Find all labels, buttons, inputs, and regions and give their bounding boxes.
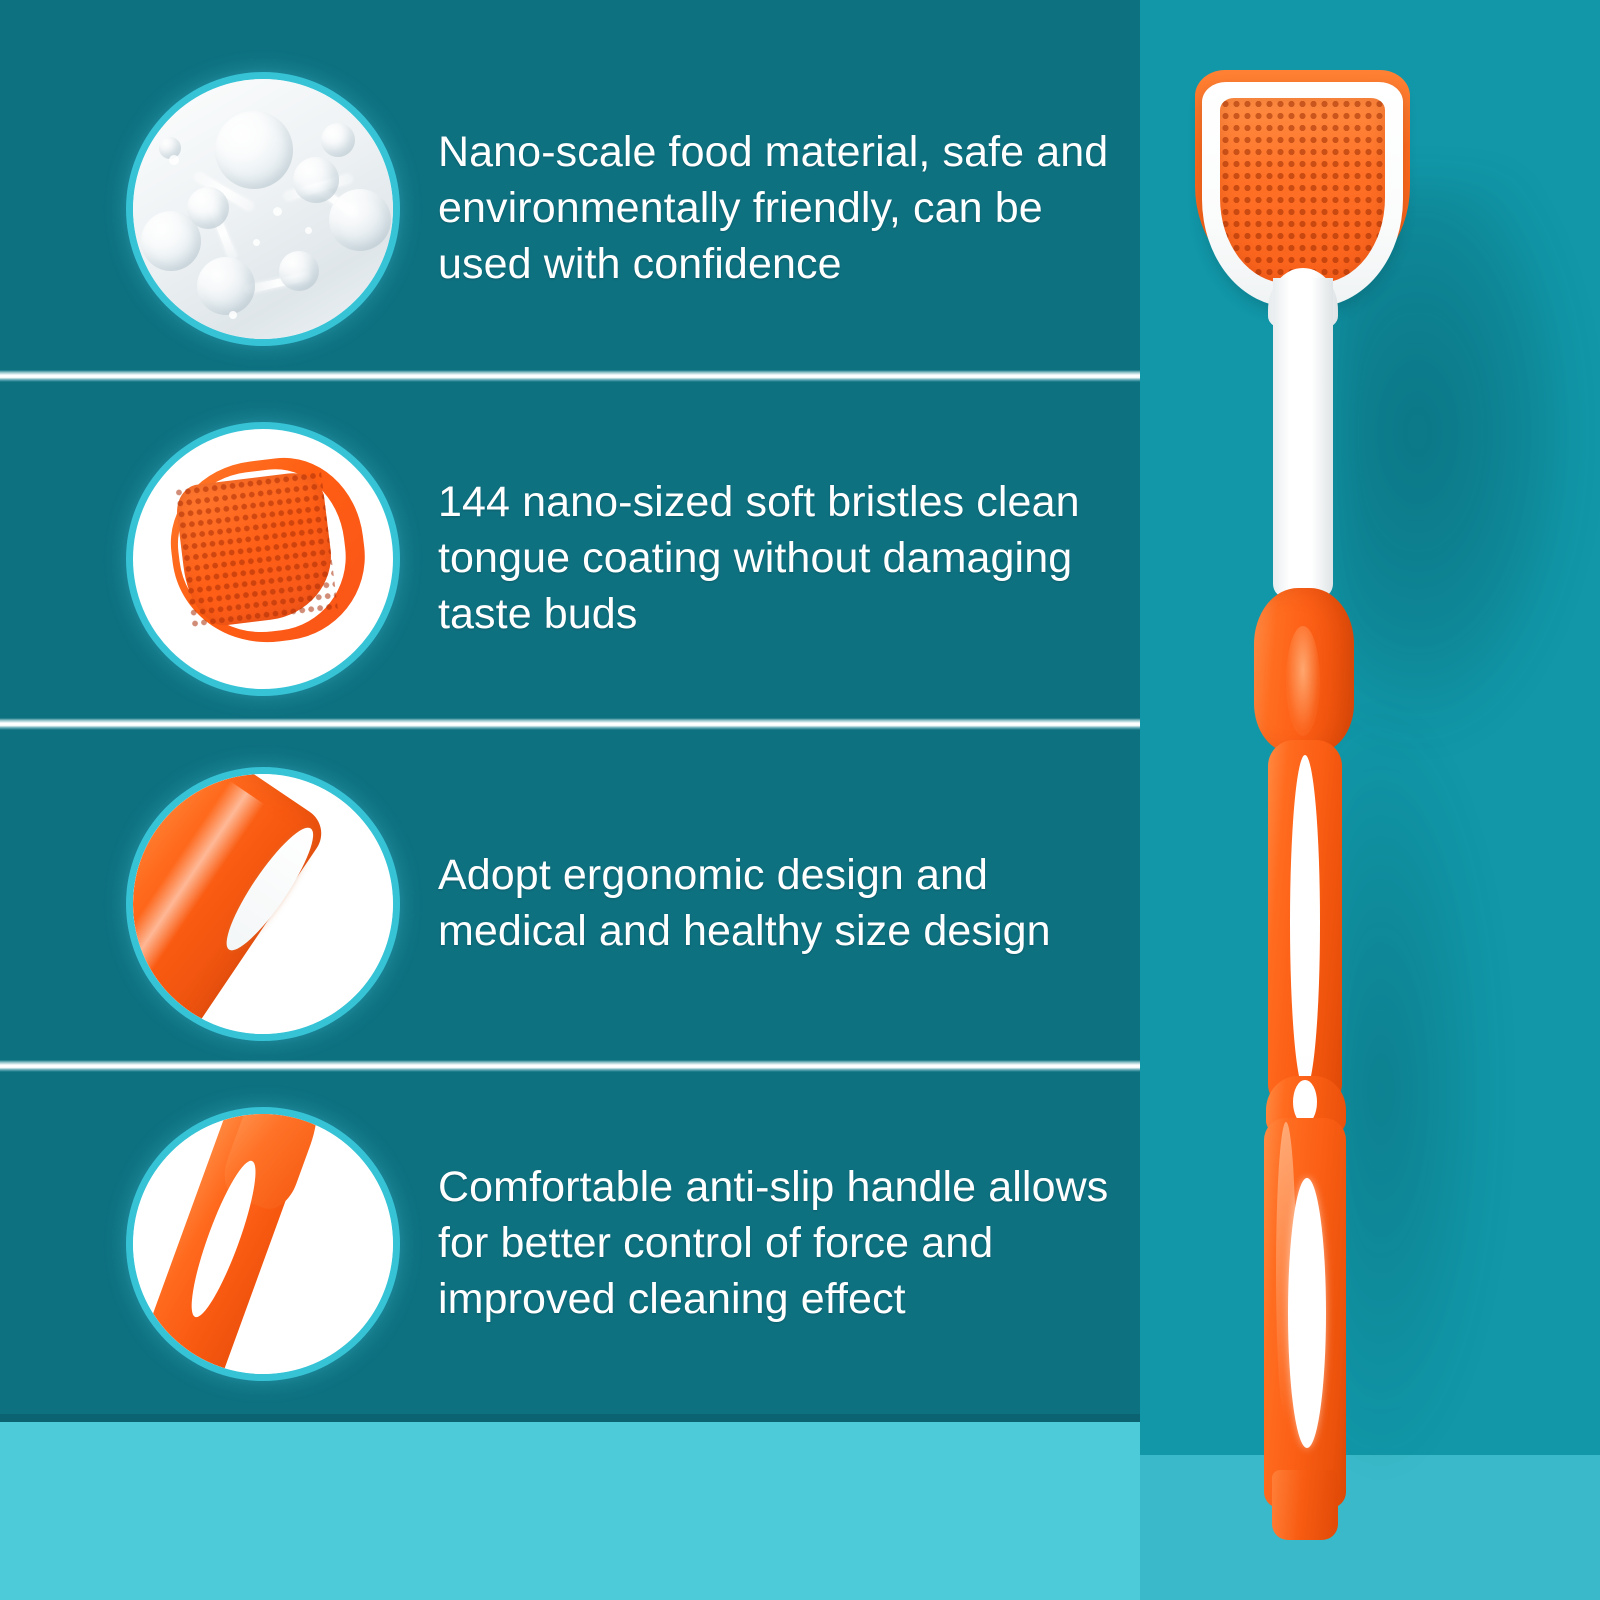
grip-inset-icon xyxy=(133,1114,393,1374)
product-bristle-texture xyxy=(1220,98,1385,283)
product-image-tongue-scraper xyxy=(1160,40,1460,1560)
bottom-band-background xyxy=(0,1422,1140,1600)
feature-thumbnail-material xyxy=(133,79,393,339)
feature-text-material: Nano-scale food material, safe and envir… xyxy=(438,125,1120,293)
feature-row-anti-slip: Comfortable anti-slip handle allows for … xyxy=(0,1113,1140,1375)
product-white-neck xyxy=(1273,278,1333,598)
infographic-canvas: Nano-scale food material, safe and envir… xyxy=(0,0,1600,1600)
feature-row-material: Nano-scale food material, safe and envir… xyxy=(0,78,1140,340)
feature-text-anti-slip: Comfortable anti-slip handle allows for … xyxy=(438,1160,1120,1328)
feature-row-bristles: 144 nano-sized soft bristles clean tongu… xyxy=(0,428,1140,690)
molecule-bubbles-icon xyxy=(133,79,393,339)
product-lower-white-inset xyxy=(1288,1178,1326,1448)
product-upper-white-inset xyxy=(1290,755,1320,1090)
row-divider-1 xyxy=(0,370,1140,382)
feature-thumbnail-ergonomic xyxy=(133,774,393,1034)
product-handle-tip xyxy=(1272,1470,1338,1540)
feature-thumbnail-bristles xyxy=(133,429,393,689)
feature-row-ergonomic: Adopt ergonomic design and medical and h… xyxy=(0,773,1140,1035)
feature-text-ergonomic: Adopt ergonomic design and medical and h… xyxy=(438,848,1120,960)
product-bristle-pad xyxy=(1220,98,1385,283)
feature-thumbnail-anti-slip xyxy=(133,1114,393,1374)
bristle-head-icon xyxy=(133,429,393,689)
row-divider-3 xyxy=(0,1060,1140,1072)
row-divider-2 xyxy=(0,718,1140,730)
handle-diagonal-icon xyxy=(133,774,393,1034)
product-grip-highlight xyxy=(1286,626,1320,736)
feature-text-bristles: 144 nano-sized soft bristles clean tongu… xyxy=(438,475,1120,643)
